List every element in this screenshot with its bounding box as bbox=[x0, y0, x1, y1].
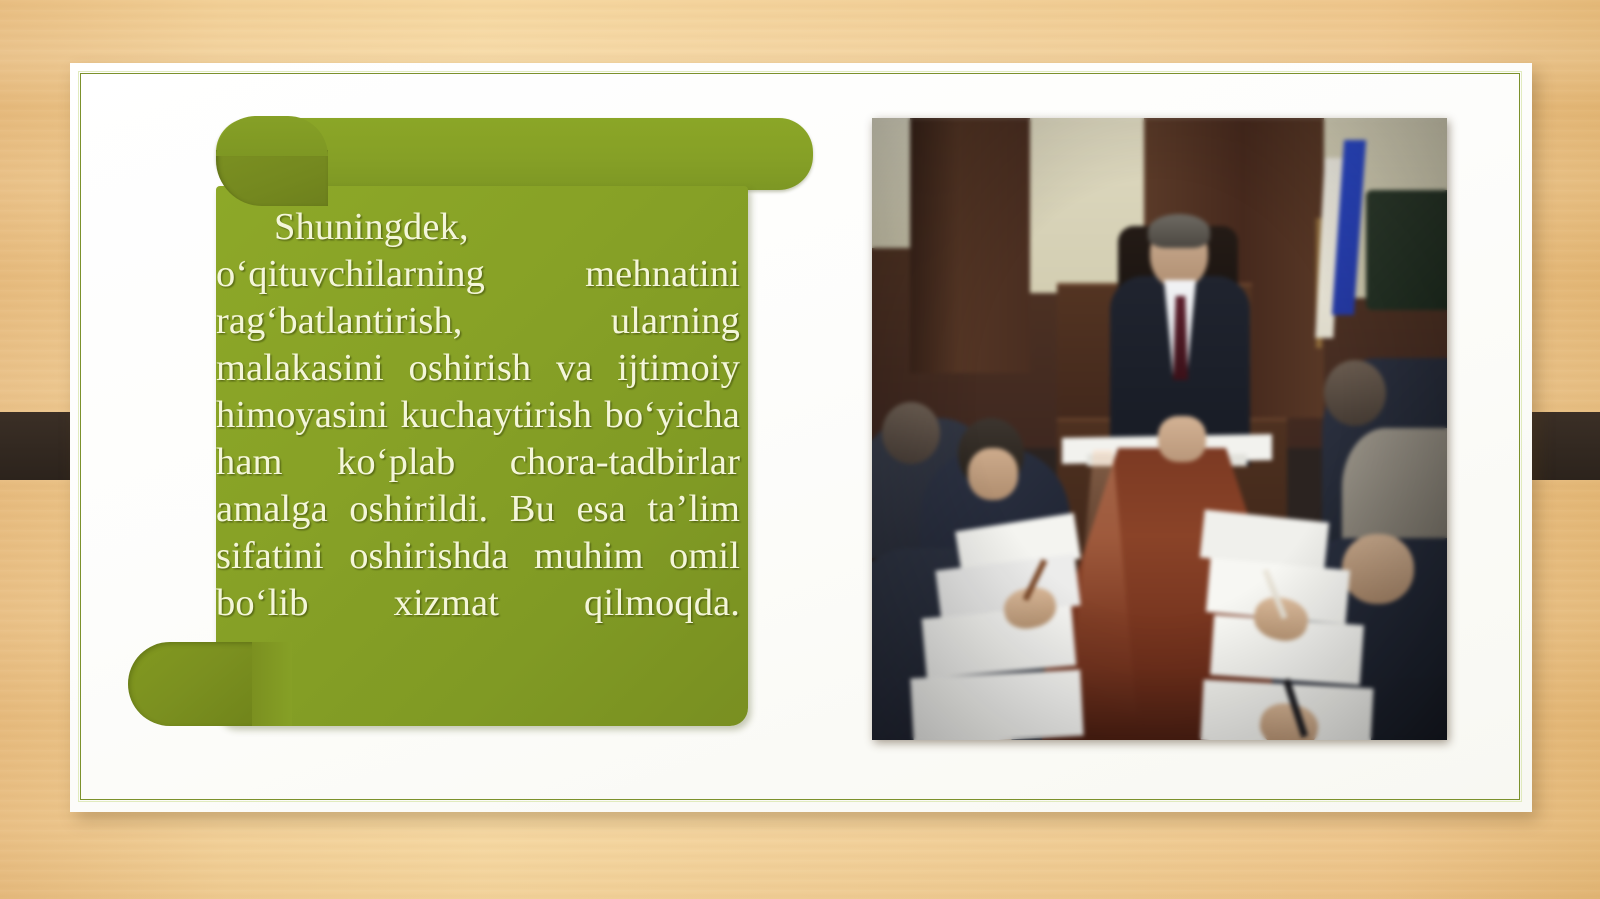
scroll-callout: Shuningdek, o‘qituvchilarning mehnatini … bbox=[128, 118, 828, 728]
callout-text-block: Shuningdek, o‘qituvchilarning mehnatini … bbox=[216, 204, 748, 674]
slide-stage: Shuningdek, o‘qituvchilarning mehnatini … bbox=[0, 0, 1600, 899]
callout-paragraph: Shuningdek, o‘qituvchilarning mehnatini … bbox=[216, 204, 740, 674]
meeting-photo bbox=[872, 118, 1447, 740]
photo-vignette bbox=[872, 118, 1447, 740]
